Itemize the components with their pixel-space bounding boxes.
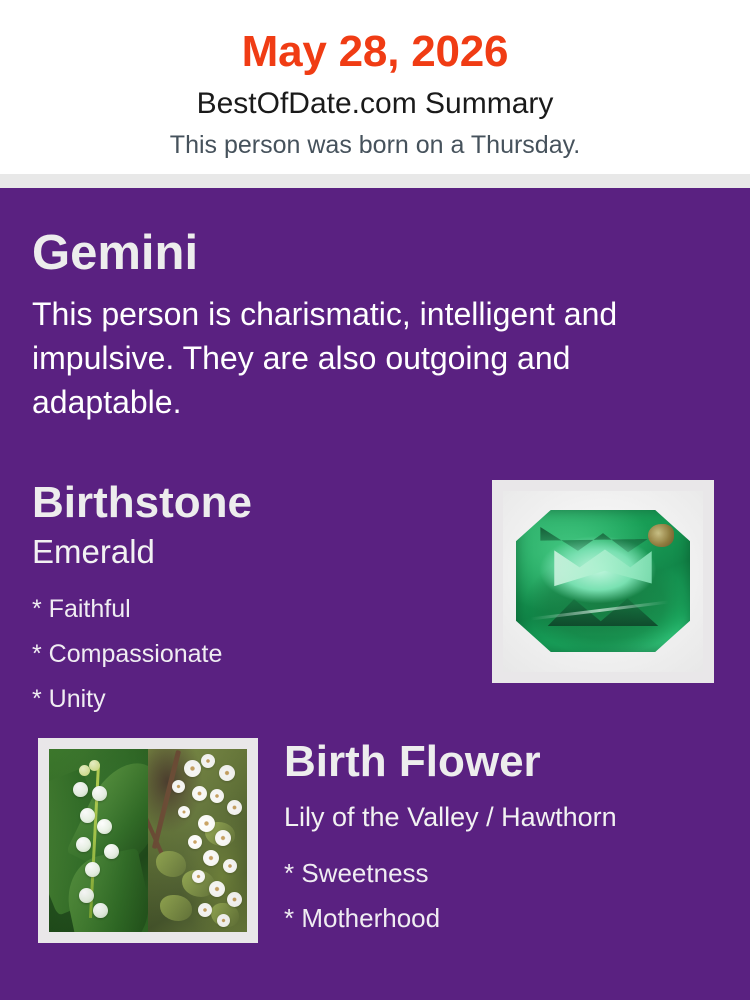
list-item: * Sweetness: [284, 851, 440, 896]
list-item: * Compassionate: [32, 632, 222, 677]
flower-bell: [92, 786, 107, 801]
blossom: [210, 789, 224, 803]
blossom: [209, 881, 225, 897]
flower-bell: [97, 819, 112, 834]
leaf: [160, 895, 192, 921]
birth-flower-name: Lily of the Valley / Hawthorn: [284, 800, 617, 834]
blossom: [217, 914, 230, 927]
blossom: [227, 892, 242, 907]
blossom: [201, 754, 215, 768]
birthstone-heading: Birthstone: [32, 477, 252, 529]
gem-facet-table: [554, 547, 651, 590]
born-day-text: This person was born on a Thursday.: [0, 130, 750, 160]
blossom: [192, 870, 205, 883]
flower-bell: [73, 782, 88, 797]
leaf: [156, 851, 186, 877]
blossom: [188, 835, 202, 849]
birthstone-name: Emerald: [32, 532, 155, 572]
birthstone-image-frame: [492, 480, 714, 683]
blossom: [192, 786, 207, 801]
blossom: [227, 800, 242, 815]
summary-body-panel: Gemini This person is charismatic, intel…: [0, 188, 750, 1000]
site-summary-label: BestOfDate.com Summary: [0, 86, 750, 122]
birth-flower-image-frame: [38, 738, 258, 943]
list-item: * Unity: [32, 677, 222, 722]
flower-bell: [80, 808, 95, 823]
flower-bell: [85, 862, 100, 877]
birthstone-trait-list: * Faithful * Compassionate * Unity: [32, 587, 222, 722]
lily-of-the-valley-photo: [49, 749, 148, 932]
header-divider: [0, 174, 750, 188]
list-item: * Faithful: [32, 587, 222, 632]
gem-inclusion: [648, 524, 674, 547]
blossom: [203, 850, 219, 866]
header: May 28, 2026 BestOfDate.com Summary This…: [0, 0, 750, 174]
blossom: [184, 760, 201, 777]
blossom: [198, 903, 212, 917]
hawthorn-photo: [148, 749, 247, 932]
blossom: [215, 830, 231, 846]
flower-composite: [49, 749, 247, 932]
flower-bell: [93, 903, 108, 918]
zodiac-sign-heading: Gemini: [32, 224, 198, 282]
flower-bell: [76, 837, 91, 852]
zodiac-description: This person is charismatic, intelligent …: [32, 292, 700, 424]
twig: [152, 750, 181, 849]
infographic-page: May 28, 2026 BestOfDate.com Summary This…: [0, 0, 750, 1000]
birth-flower-heading: Birth Flower: [284, 736, 541, 788]
gem-photo-background: [503, 491, 703, 672]
flower-bell: [79, 888, 94, 903]
blossom: [223, 859, 237, 873]
birth-flower-trait-list: * Sweetness * Motherhood: [284, 851, 440, 941]
blossom: [198, 815, 215, 832]
blossom: [178, 806, 190, 818]
blossom: [219, 765, 235, 781]
flower-bud: [89, 760, 100, 771]
list-item: * Motherhood: [284, 896, 440, 941]
flower-bud: [79, 765, 90, 776]
birthstone-image: [503, 491, 703, 672]
page-title: May 28, 2026: [0, 26, 750, 78]
blossom: [172, 780, 185, 793]
birth-flower-image: [49, 749, 247, 932]
emerald-gem-icon: [516, 510, 690, 652]
